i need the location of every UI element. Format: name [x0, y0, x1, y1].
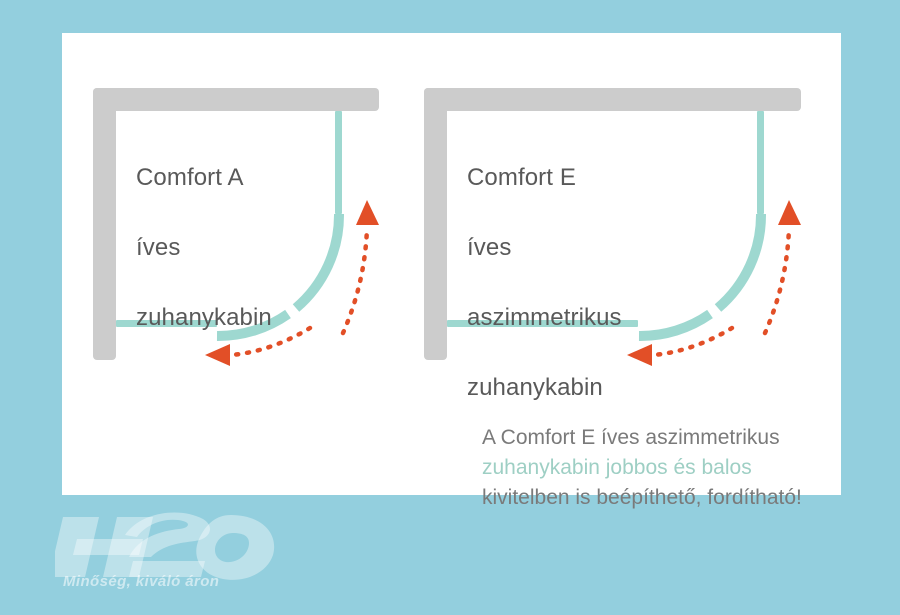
- white-content-card: Comfort A íves zuhanykabin: [62, 33, 841, 495]
- diagram-a-title: Comfort A íves zuhanykabin: [136, 125, 272, 370]
- diagram-a-title-line2: íves: [136, 230, 272, 265]
- h2o-logo-icon: [55, 505, 295, 585]
- watermark-tagline: Minőség, kiváló áron: [63, 573, 219, 590]
- diagram-e-title-line2: íves: [467, 230, 622, 265]
- diagram-e-title-line4: zuhanykabin: [467, 370, 622, 405]
- diagram-a-title-line3: zuhanykabin: [136, 300, 272, 335]
- caption-line-1: A Comfort E íves aszimmetrikus: [482, 423, 882, 453]
- diagram-a-title-line1: Comfort A: [136, 160, 272, 195]
- diagram-e-title-line1: Comfort E: [467, 160, 622, 195]
- diagram-e-title: Comfort E íves aszimmetrikus zuhanykabin: [467, 125, 622, 440]
- diagram-comfort-e: Comfort E íves aszimmetrikus zuhanykabin: [392, 33, 812, 433]
- poster-canvas: Comfort A íves zuhanykabin: [0, 0, 900, 615]
- caption-line-2: zuhanykabin jobbos és balos: [482, 453, 882, 483]
- diagram-e-title-line3: aszimmetrikus: [467, 300, 622, 335]
- caption-block: A Comfort E íves aszimmetrikus zuhanykab…: [482, 423, 882, 513]
- diagram-comfort-a: Comfort A íves zuhanykabin: [62, 33, 422, 433]
- caption-line-3: kivitelben is beépíthető, fordítható!: [482, 483, 882, 513]
- watermark-logo: Minőség, kiváló áron: [55, 505, 295, 605]
